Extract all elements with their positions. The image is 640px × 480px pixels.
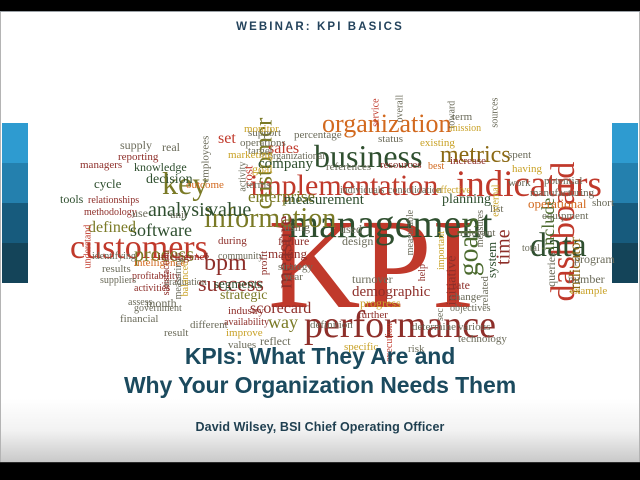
video-player-viewport: WEBINAR: KPI BASICS KPImanagementindicat… [0, 0, 640, 480]
word-cloud-term: monitor [244, 124, 279, 134]
word-cloud-term: system [486, 242, 498, 278]
word-cloud-term: manufacturing [530, 188, 594, 198]
word-cloud-term: having [512, 164, 542, 174]
word-cloud-term: potential [544, 176, 583, 186]
word-cloud-term: tools [60, 194, 83, 205]
word-cloud-term: program [574, 254, 615, 265]
word-cloud-term: organizational [268, 152, 325, 161]
word-cloud-term: relationships [88, 196, 139, 205]
word-cloud-term: references [326, 162, 371, 172]
word-cloud-term: result [164, 328, 188, 338]
word-cloud-term: way [268, 314, 298, 331]
word-cloud-term: employees [200, 136, 210, 183]
word-cloud-term: change [450, 292, 481, 302]
word-cloud-term: segments [214, 278, 262, 290]
word-cloud-term: software [130, 222, 192, 239]
word-cloud-term: spent [508, 150, 531, 160]
slide-title-block: KPIs: What They Are and Why Your Organiz… [0, 342, 640, 434]
word-cloud-term: strategic [220, 290, 267, 303]
word-cloud-term: improve [226, 328, 263, 338]
word-cloud-term: help [418, 264, 427, 281]
word-cloud-term: short [592, 198, 614, 208]
word-cloud-term: example [570, 286, 607, 296]
word-cloud-term: consolidation [388, 186, 442, 195]
word-cloud-term: identifying [92, 252, 136, 261]
word-cloud-term: service [372, 98, 381, 126]
word-cloud-term: defined [88, 221, 136, 236]
slide-title-line-1: KPIs: What They Are and [0, 342, 640, 371]
word-cloud-term: design [342, 236, 373, 247]
word-cloud-term: industry [228, 306, 264, 316]
word-cloud-term: resources [380, 160, 422, 170]
word-cloud-term: community [218, 252, 264, 261]
slide-title-line-2: Why Your Organization Needs Them [0, 371, 640, 400]
word-cloud-term: external [492, 184, 501, 216]
word-cloud-term: mission [450, 124, 481, 133]
word-cloud-term: understand [83, 225, 92, 269]
word-cloud-term: number [568, 274, 605, 285]
word-cloud-term: best [428, 162, 444, 171]
word-cloud-term: profit [259, 251, 269, 275]
word-cloud-term: terms [246, 180, 270, 190]
word-cloud-term: during [218, 236, 247, 246]
word-cloud-term: methodology [84, 208, 137, 217]
letterbox-top [0, 0, 640, 11]
word-cloud-term: rate [452, 280, 470, 291]
word-cloud-term: important [437, 231, 446, 270]
word-cloud-term: effective [436, 186, 471, 195]
word-cloud-term: sec [436, 308, 445, 321]
word-cloud-term: financial [120, 314, 158, 324]
slide-eyebrow-label: WEBINAR: KPI BASICS [0, 21, 640, 33]
word-cloud-term: intelligence [158, 252, 209, 262]
word-cloud-term: outcome [186, 180, 224, 190]
word-cloud-term: determine [412, 322, 456, 332]
word-cloud-term: value [208, 201, 251, 219]
word-cloud-term: results [102, 264, 131, 274]
word-cloud-term: operations [240, 138, 286, 148]
word-cloud-term: unit [170, 210, 187, 220]
word-cloud-term: measures [476, 210, 485, 247]
word-cloud-term: status [378, 134, 403, 144]
word-cloud-term: real [162, 142, 180, 153]
word-cloud-term: related [480, 276, 490, 306]
word-cloud-term: knowledge [134, 162, 187, 173]
word-cloud-term: measurement [284, 194, 364, 208]
word-cloud-term: assess [128, 298, 152, 307]
word-cloud-term: various [458, 322, 490, 332]
word-cloud-term: queries [546, 252, 557, 287]
word-cloud-image: KPImanagementindicatorsperformancecustom… [22, 46, 618, 336]
word-cloud-term: marketing [228, 150, 273, 160]
letterbox-bottom [0, 463, 640, 480]
word-cloud-term: managers [80, 160, 122, 170]
word-cloud-term: availability [224, 318, 269, 327]
word-cloud-term: reporting [118, 152, 158, 162]
word-cloud-term: progress [360, 298, 401, 309]
word-cloud-term: using [284, 222, 310, 233]
word-cloud-term: individuals [340, 186, 384, 195]
word-cloud-term: work [508, 178, 531, 188]
word-cloud-term: further [358, 310, 388, 320]
word-cloud-term: suppliers [100, 276, 136, 285]
word-cloud-term: equipment [542, 211, 588, 221]
word-cloud-term: definition [310, 320, 353, 330]
slide-presenter-byline: David Wilsey, BSI Chief Operating Office… [0, 420, 640, 434]
word-cloud-term: measuring [174, 258, 183, 300]
word-cloud-term: use [132, 208, 148, 219]
word-cloud-term: making [268, 248, 307, 260]
word-cloud-term: cycle [94, 178, 121, 190]
word-cloud-term: overall [395, 95, 404, 123]
word-cloud-term: increase [450, 156, 486, 166]
word-cloud-term: supply [120, 140, 152, 151]
word-cloud-term: percentage [294, 130, 342, 140]
word-cloud-term: different [190, 320, 228, 330]
word-cloud-term: total [522, 244, 540, 253]
word-cloud-term: existing [420, 138, 455, 148]
word-cloud-term: operational [528, 198, 586, 210]
word-cloud-term: set [218, 132, 236, 147]
word-cloud-term: year [284, 272, 303, 282]
presentation-slide: WEBINAR: KPI BASICS KPImanagementindicat… [0, 11, 640, 463]
word-cloud-term: sources [490, 98, 499, 128]
word-cloud-term: measurable [406, 210, 415, 256]
word-cloud-term: turnover [352, 274, 393, 285]
